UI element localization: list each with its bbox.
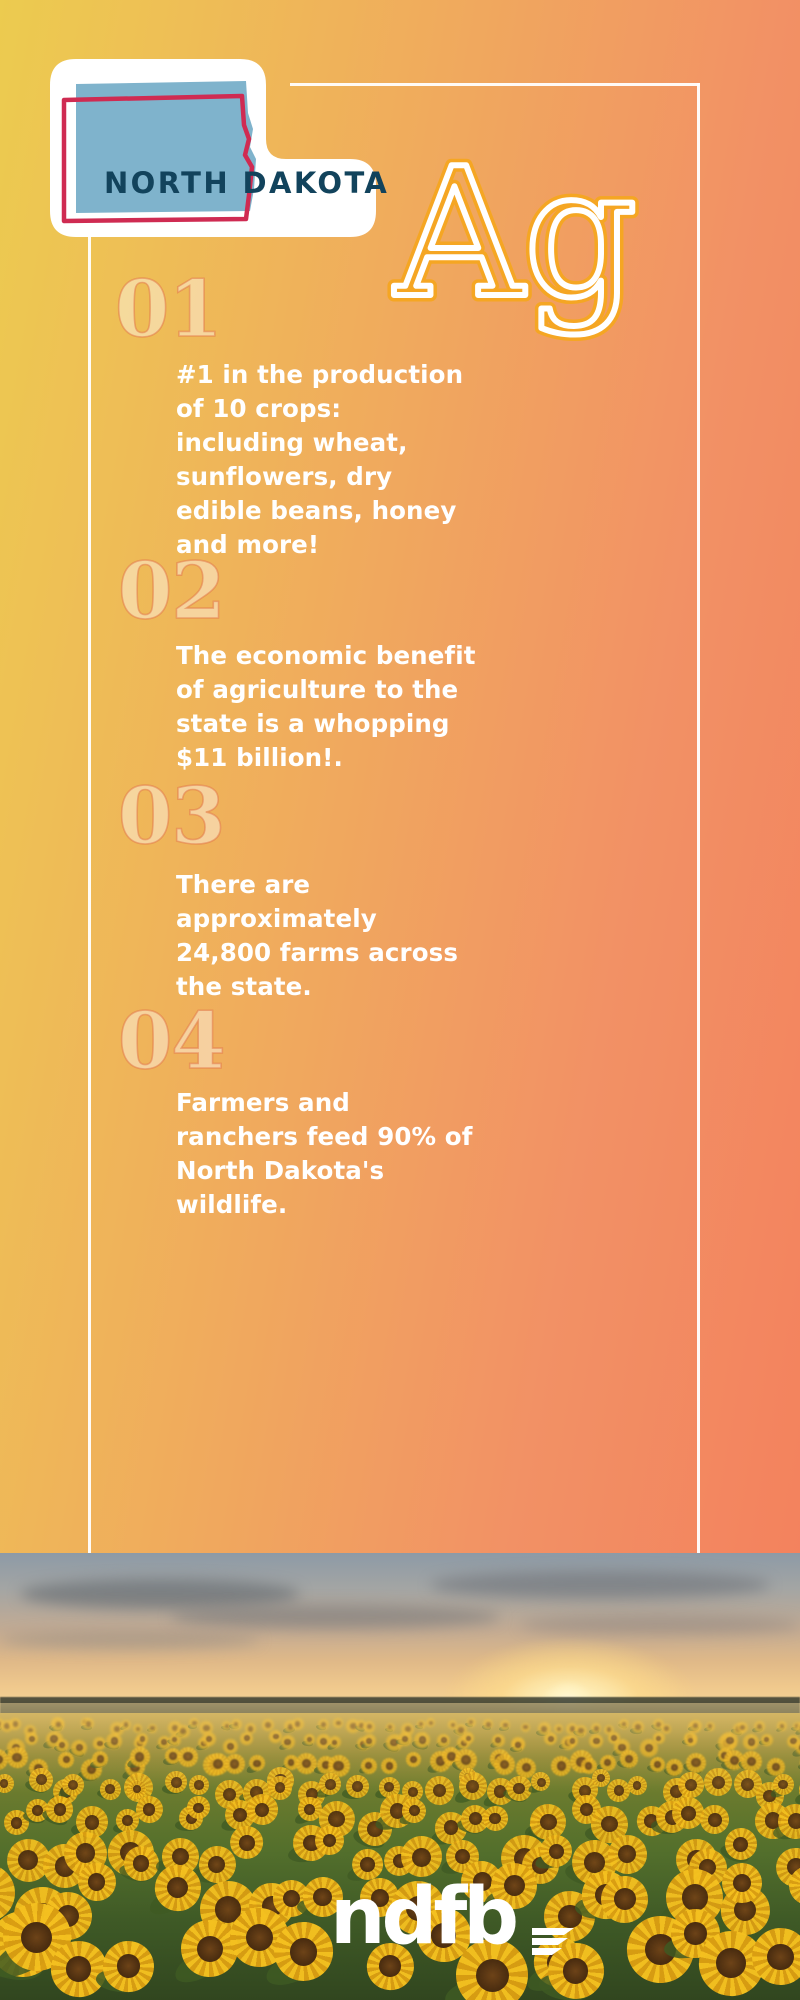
sunflower-disc [726, 1737, 734, 1745]
infographic-poster: NORTH DAKOTA Ag Ag 01 #1 in the producti… [0, 0, 800, 2000]
fact-text: #1 in the production of 10 crops: includ… [176, 358, 506, 562]
sunflower-disc [246, 1924, 273, 1951]
north-dakota-map-sticker: NORTH DAKOTA [28, 47, 433, 275]
sunflower-disc [172, 1848, 189, 1865]
sunflower-disc [54, 1803, 67, 1816]
sunflower-disc [273, 1734, 279, 1740]
sunflower-disc [203, 1725, 209, 1731]
sunflower-disc [712, 1776, 725, 1789]
sunflower-disc [12, 1753, 21, 1762]
sunflower-disc [503, 1723, 508, 1728]
sunflower-disc [227, 1743, 234, 1750]
sunflower-disc [11, 1817, 23, 1829]
sunflower-disc [767, 1944, 793, 1970]
sunflower-disc [143, 1803, 155, 1815]
sunflower-disc [336, 1721, 341, 1726]
sunflower-disc [13, 1721, 19, 1727]
cloud [0, 1631, 260, 1649]
sunflower-disc [288, 1759, 295, 1766]
fact-number: 02 [118, 553, 225, 631]
sunflower-disc [352, 1781, 363, 1792]
fact-number: 01 [115, 271, 222, 349]
sunflower-disc [682, 1884, 708, 1910]
sunflower-disc [635, 1724, 641, 1730]
sunflower-disc [691, 1758, 700, 1767]
sunflower-disc [133, 1855, 149, 1871]
sunflower-disc [197, 1936, 223, 1962]
sunflower-disc [135, 1752, 144, 1761]
sunflower-disc [716, 1948, 746, 1978]
sunflower-disc [180, 1728, 186, 1734]
sunflower-disc [601, 1816, 618, 1833]
sunflower-disc [36, 1774, 47, 1785]
sunflower-disc [171, 1777, 181, 1787]
sunflower-disc [290, 1938, 317, 1965]
sunflower-disc [208, 1856, 225, 1873]
sunflower-disc [614, 1888, 636, 1910]
cloud [20, 1579, 300, 1609]
sunflower-disc [248, 1726, 253, 1731]
sunflower-disc [114, 1726, 120, 1732]
sunflower-disc [708, 1813, 722, 1827]
sunflower-disc [66, 1956, 92, 1982]
sunflower-disc [328, 1811, 344, 1827]
sunflower-disc [97, 1755, 105, 1763]
sunflower-disc [59, 1742, 65, 1748]
sunflower-disc [748, 1738, 755, 1745]
sunflower-disc [122, 1815, 133, 1826]
sunflower-disc [458, 1727, 463, 1732]
sunflower-disc [684, 1922, 706, 1944]
sunflower-disc [654, 1761, 661, 1768]
sunflower-disc [645, 1744, 653, 1752]
fact-text: The economic benefit of agriculture to t… [176, 639, 506, 775]
sunflower-disc [193, 1803, 204, 1814]
sunflower-disc [265, 1722, 271, 1728]
sunflower-disc [86, 1721, 91, 1726]
cloud [430, 1571, 770, 1599]
sunflower-disc [466, 1736, 471, 1741]
sunflower-disc [169, 1752, 177, 1760]
sunflower-disc [304, 1804, 315, 1815]
sunflower-disc [412, 1848, 431, 1867]
sunflower-disc [230, 1759, 239, 1768]
fact-text: Farmers and ranchers feed 90% of North D… [176, 1086, 516, 1222]
cloud [520, 1615, 800, 1635]
sunflower-disc [29, 1736, 35, 1742]
sunflower-disc [584, 1852, 605, 1873]
sunflower-disc [433, 1784, 446, 1797]
sunflower-disc [325, 1779, 335, 1789]
sunflower-disc [486, 1722, 491, 1727]
fact-number: 03 [118, 778, 225, 856]
sunflower-disc [85, 1815, 100, 1830]
sunflower-disc [321, 1722, 326, 1727]
sunflower-disc [408, 1787, 418, 1797]
frame-rule-right [697, 83, 700, 1553]
sunflower-disc [522, 1763, 531, 1772]
sunflower-disc [192, 1721, 197, 1726]
sunflower-disc [105, 1784, 114, 1793]
sunflower-disc [117, 1954, 140, 1977]
sunflower-disc [244, 1735, 250, 1741]
sunflower-disc [557, 1761, 566, 1770]
sunflower-disc [585, 1762, 592, 1769]
sunflower-disc [451, 1723, 455, 1727]
sunflower-disc [111, 1737, 118, 1744]
sunflower-disc [88, 1873, 105, 1890]
sunflower-disc [402, 1736, 408, 1742]
sunflower-disc [625, 1755, 633, 1763]
sunflower-disc [548, 1736, 554, 1742]
sunflower-disc [194, 1780, 203, 1789]
frame-rule-left [88, 215, 91, 1553]
sunflower-disc [733, 1837, 748, 1852]
ndfb-wordmark: ndfb [330, 1878, 515, 1956]
sunflower-disc [681, 1806, 696, 1821]
sunflower-disc [466, 1780, 479, 1793]
sunflower-disc [97, 1741, 103, 1747]
sunflower-disc [183, 1752, 192, 1761]
sunflower-disc [570, 1738, 576, 1744]
cloud [170, 1605, 500, 1629]
sunflower-disc [223, 1788, 236, 1801]
sunflower-disc [740, 1725, 745, 1730]
sunflower-disc [419, 1736, 427, 1744]
sunflower-disc [664, 1726, 669, 1731]
sunflower-disc [360, 1857, 374, 1871]
ndfb-mark-icon [528, 1926, 580, 1956]
sunflower-disc [384, 1782, 394, 1792]
sunflower-disc [594, 1726, 599, 1731]
sunflower-disc [614, 1785, 625, 1796]
sunflower-disc [386, 1762, 393, 1769]
sunflower-disc [549, 1844, 564, 1859]
state-label: NORTH DAKOTA [104, 166, 389, 200]
sunflower-disc [515, 1742, 521, 1748]
fact-number: 04 [118, 1003, 225, 1081]
sunflower-disc [537, 1778, 546, 1787]
sunflower-disc [253, 1760, 261, 1768]
sunflower-disc [540, 1814, 557, 1831]
sunflower-disc [476, 1959, 509, 1992]
sunflower-disc [461, 1755, 471, 1765]
sunflower-disc [541, 1726, 547, 1732]
sunflower-disc [557, 1727, 561, 1731]
sunflower-disc [469, 1812, 482, 1825]
sunflower-disc [302, 1759, 311, 1768]
sunflower-disc [409, 1805, 420, 1816]
fact-text: There are approximately 24,800 farms acr… [176, 868, 506, 1004]
sunflower-disc [320, 1738, 327, 1745]
sunflower-disc [333, 1761, 343, 1771]
sunflower-disc [150, 1726, 154, 1730]
sunflower-disc [772, 1763, 780, 1771]
sunflower-disc [239, 1835, 254, 1850]
sunflower-disc [578, 1728, 583, 1733]
ndfb-logo: ndfb [330, 1878, 590, 1958]
